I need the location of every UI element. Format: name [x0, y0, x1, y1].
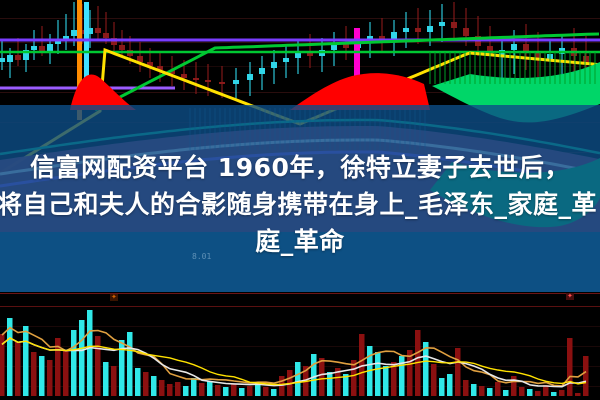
volume-flag-marker-right: ✦	[566, 293, 574, 300]
watermark-text-block: 信富网配资平台 1960年，徐特立妻子去世后， 将自己和夫人的合影随身携带在身上…	[0, 105, 600, 292]
volume-chart-graphics	[0, 292, 600, 400]
watermark-line-3: 庭_革命	[255, 223, 345, 260]
volume-chart-panel[interactable]: ✦ ✦	[0, 292, 600, 400]
volume-flag-marker-left: ✦	[110, 294, 118, 301]
watermark-line-2: 将自己和夫人的合影随身携带在身上_毛泽东_家庭_革	[0, 186, 597, 223]
stock-chart-screenshot: ✦ ✦ 8.01 信富网配资平台 1960年，徐特立妻子去世后， 将自己和夫人的…	[0, 0, 600, 400]
watermark-line-1: 信富网配资平台 1960年，徐特立妻子去世后，	[30, 149, 570, 186]
